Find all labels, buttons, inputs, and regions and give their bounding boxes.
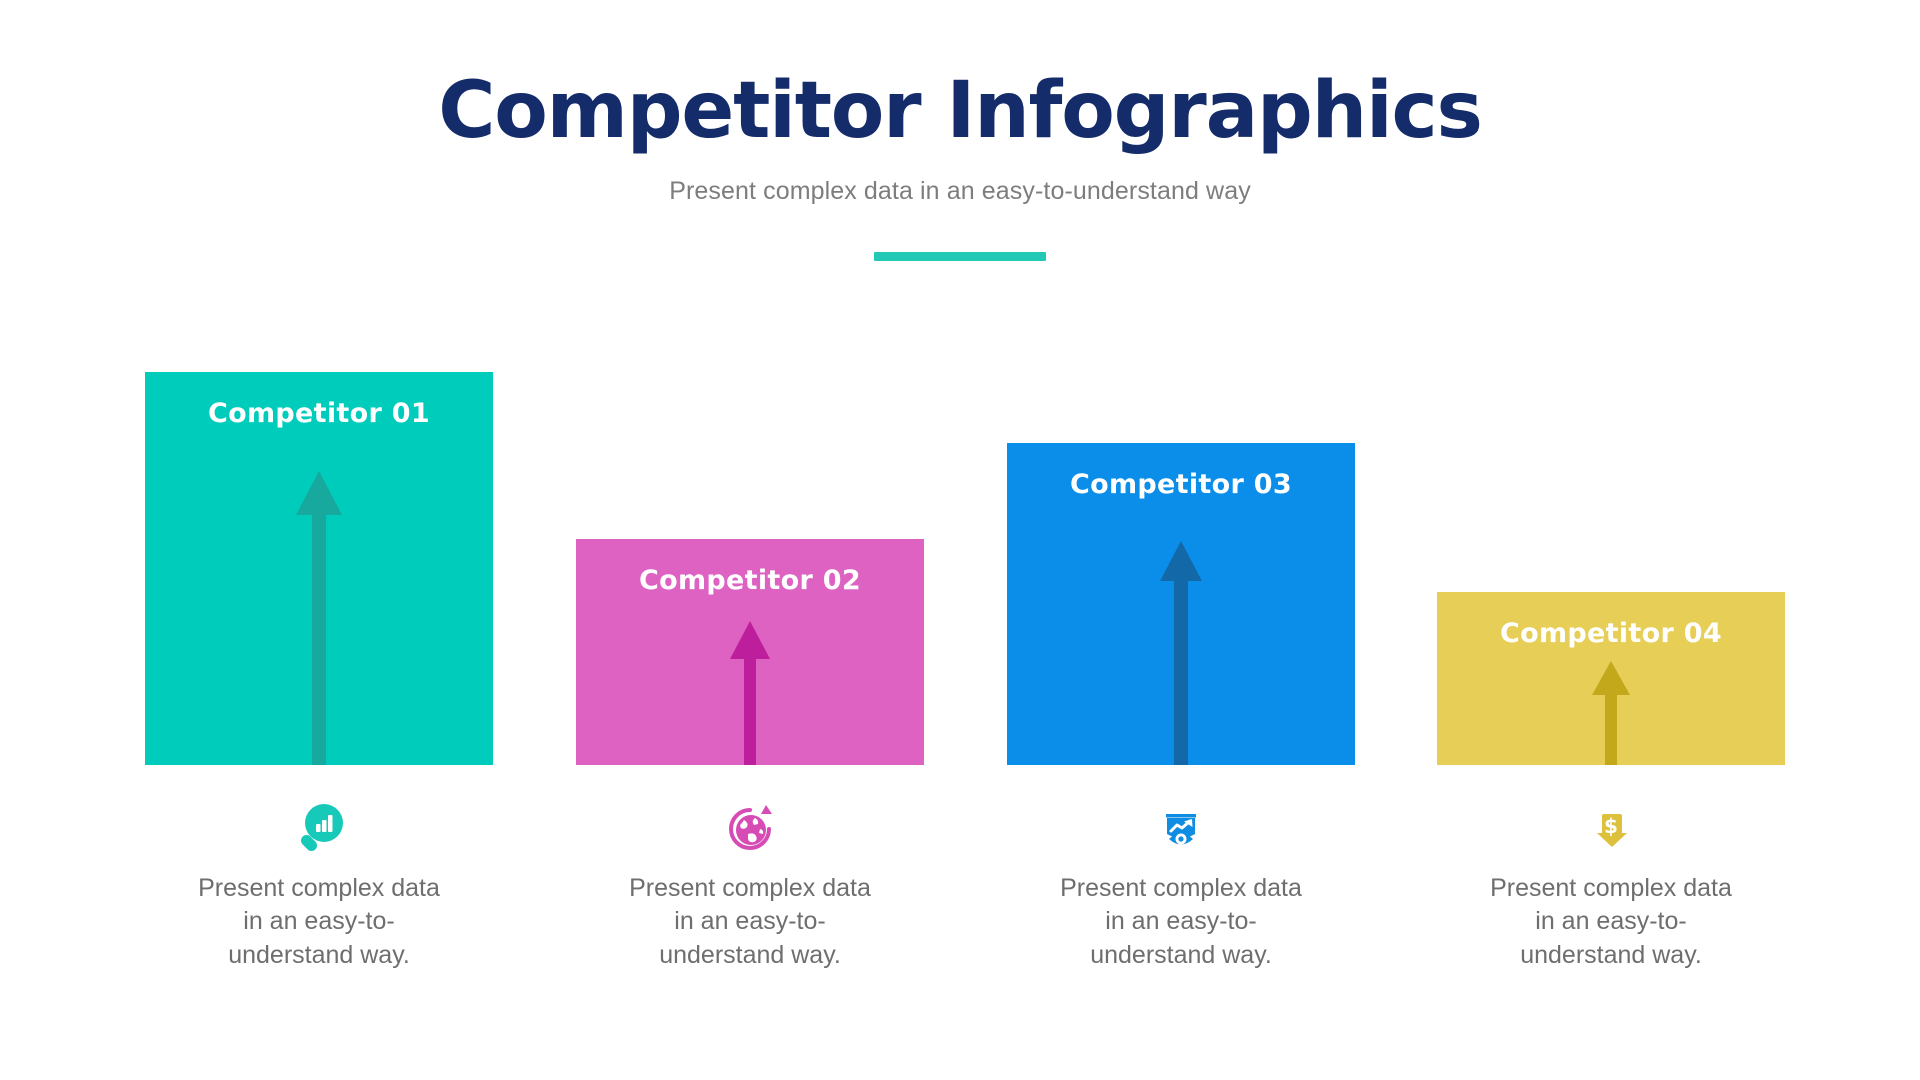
caption-4-line-2: in an easy-to- — [1437, 905, 1785, 938]
caption-3: Present complex data in an easy-to- unde… — [1007, 872, 1355, 972]
icon-trend-eye-wrap[interactable] — [1007, 797, 1355, 861]
bar-competitor-1[interactable]: Competitor 01 — [145, 372, 493, 765]
bar-competitor-4[interactable]: Competitor 04 — [1437, 592, 1785, 765]
caption-3-line-3: understand way. — [1007, 939, 1355, 972]
icon-magnifier-chart-wrap[interactable] — [145, 797, 493, 861]
bar-label-1: Competitor 01 — [145, 398, 493, 429]
up-arrow-3 — [1160, 541, 1202, 765]
dollar-down-arrow-icon: $ — [1583, 801, 1639, 857]
caption-2-line-3: understand way. — [576, 939, 924, 972]
caption-2-line-2: in an easy-to- — [576, 905, 924, 938]
caption-4-line-1: Present complex data — [1437, 872, 1785, 905]
competitor-columns: Competitor 01 Present complex data — [0, 0, 1920, 1080]
caption-4-line-3: understand way. — [1437, 939, 1785, 972]
up-arrow-4 — [1592, 661, 1630, 765]
up-arrow-2 — [730, 621, 770, 765]
bar-label-3: Competitor 03 — [1007, 469, 1355, 500]
icon-dollar-down-arrow-wrap[interactable]: $ — [1437, 797, 1785, 861]
magnifier-chart-icon — [291, 801, 347, 857]
slide-canvas: Competitor Infographics Present complex … — [0, 0, 1920, 1080]
up-arrow-1 — [296, 471, 342, 765]
bar-competitor-3[interactable]: Competitor 03 — [1007, 443, 1355, 765]
svg-text:$: $ — [1604, 814, 1618, 838]
caption-3-line-1: Present complex data — [1007, 872, 1355, 905]
caption-1-line-2: in an easy-to- — [145, 905, 493, 938]
bar-label-4: Competitor 04 — [1437, 618, 1785, 649]
trend-eye-icon — [1153, 801, 1209, 857]
caption-3-line-2: in an easy-to- — [1007, 905, 1355, 938]
bar-competitor-2[interactable]: Competitor 02 — [576, 539, 924, 765]
caption-4: Present complex data in an easy-to- unde… — [1437, 872, 1785, 972]
caption-2-line-1: Present complex data — [576, 872, 924, 905]
bar-label-2: Competitor 02 — [576, 565, 924, 596]
caption-1-line-1: Present complex data — [145, 872, 493, 905]
caption-1-line-3: understand way. — [145, 939, 493, 972]
icon-globe-wrap[interactable] — [576, 797, 924, 861]
caption-2: Present complex data in an easy-to- unde… — [576, 872, 924, 972]
globe-icon — [722, 801, 778, 857]
caption-1: Present complex data in an easy-to- unde… — [145, 872, 493, 972]
